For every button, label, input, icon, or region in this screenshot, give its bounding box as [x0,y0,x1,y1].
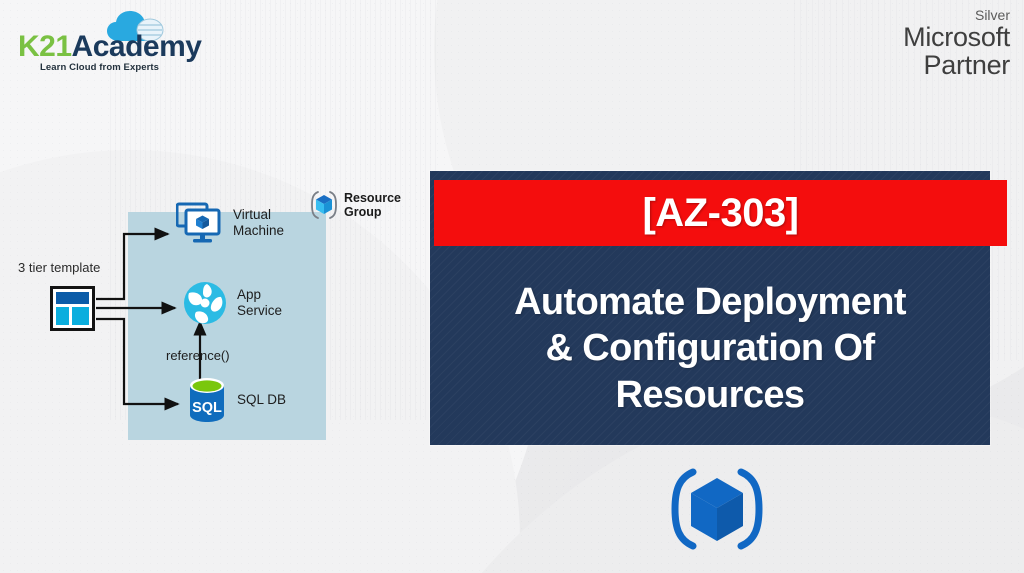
virtual-machine-icon [176,202,224,244]
reference-function-label: reference() [166,348,230,363]
logo-tagline: Learn Cloud from Experts [40,62,159,73]
partner-label: Partner [903,51,1010,79]
app-label-line1: App [237,287,282,303]
azure-resource-cube-icon [667,464,767,554]
resource-group-line2: Group [344,205,401,219]
svg-text:SQL: SQL [192,400,222,416]
resource-group-badge: Resource Group [310,190,401,220]
slide-canvas: K21Academy Learn Cloud from Experts Silv… [0,0,1024,573]
virtual-machine-label: Virtual Machine [233,207,284,238]
headline-line-2: & Configuration Of [545,326,874,370]
headline-line-3: Resources [616,373,805,417]
microsoft-label: Microsoft [903,23,1010,51]
k21academy-logo[interactable]: K21Academy Learn Cloud from Experts [18,8,188,70]
node-app-service[interactable]: App Service [182,280,282,326]
logo-academy-text: Academy [72,30,202,63]
headline-block: Automate Deployment & Configuration Of R… [430,256,990,441]
headline-line-1: Automate Deployment [514,280,906,324]
node-virtual-machine[interactable]: Virtual Machine [176,202,284,244]
vm-label-line2: Machine [233,223,284,239]
sql-database-icon: SQL [186,376,228,424]
exam-code-banner: [AZ-303] [434,180,1007,246]
app-service-label: App Service [237,287,282,318]
vm-label-line1: Virtual [233,207,284,223]
resource-group-line1: Resource [344,191,401,205]
partner-level-label: Silver [903,8,1010,23]
exam-code-text: [AZ-303] [642,191,798,236]
logo-k21-text: K21 [18,30,72,63]
resource-group-label: Resource Group [344,191,401,219]
resource-group-cube-icon [310,190,338,220]
microsoft-partner-badge: Silver Microsoft Partner [903,8,1010,79]
logo-wordmark: K21Academy [18,30,201,64]
node-sql-db[interactable]: SQL SQL DB [186,376,286,424]
app-label-line2: Service [237,303,282,319]
app-service-globe-icon [182,280,228,326]
architecture-diagram: 3 tier template [0,180,430,460]
sql-db-label: SQL DB [237,392,286,408]
